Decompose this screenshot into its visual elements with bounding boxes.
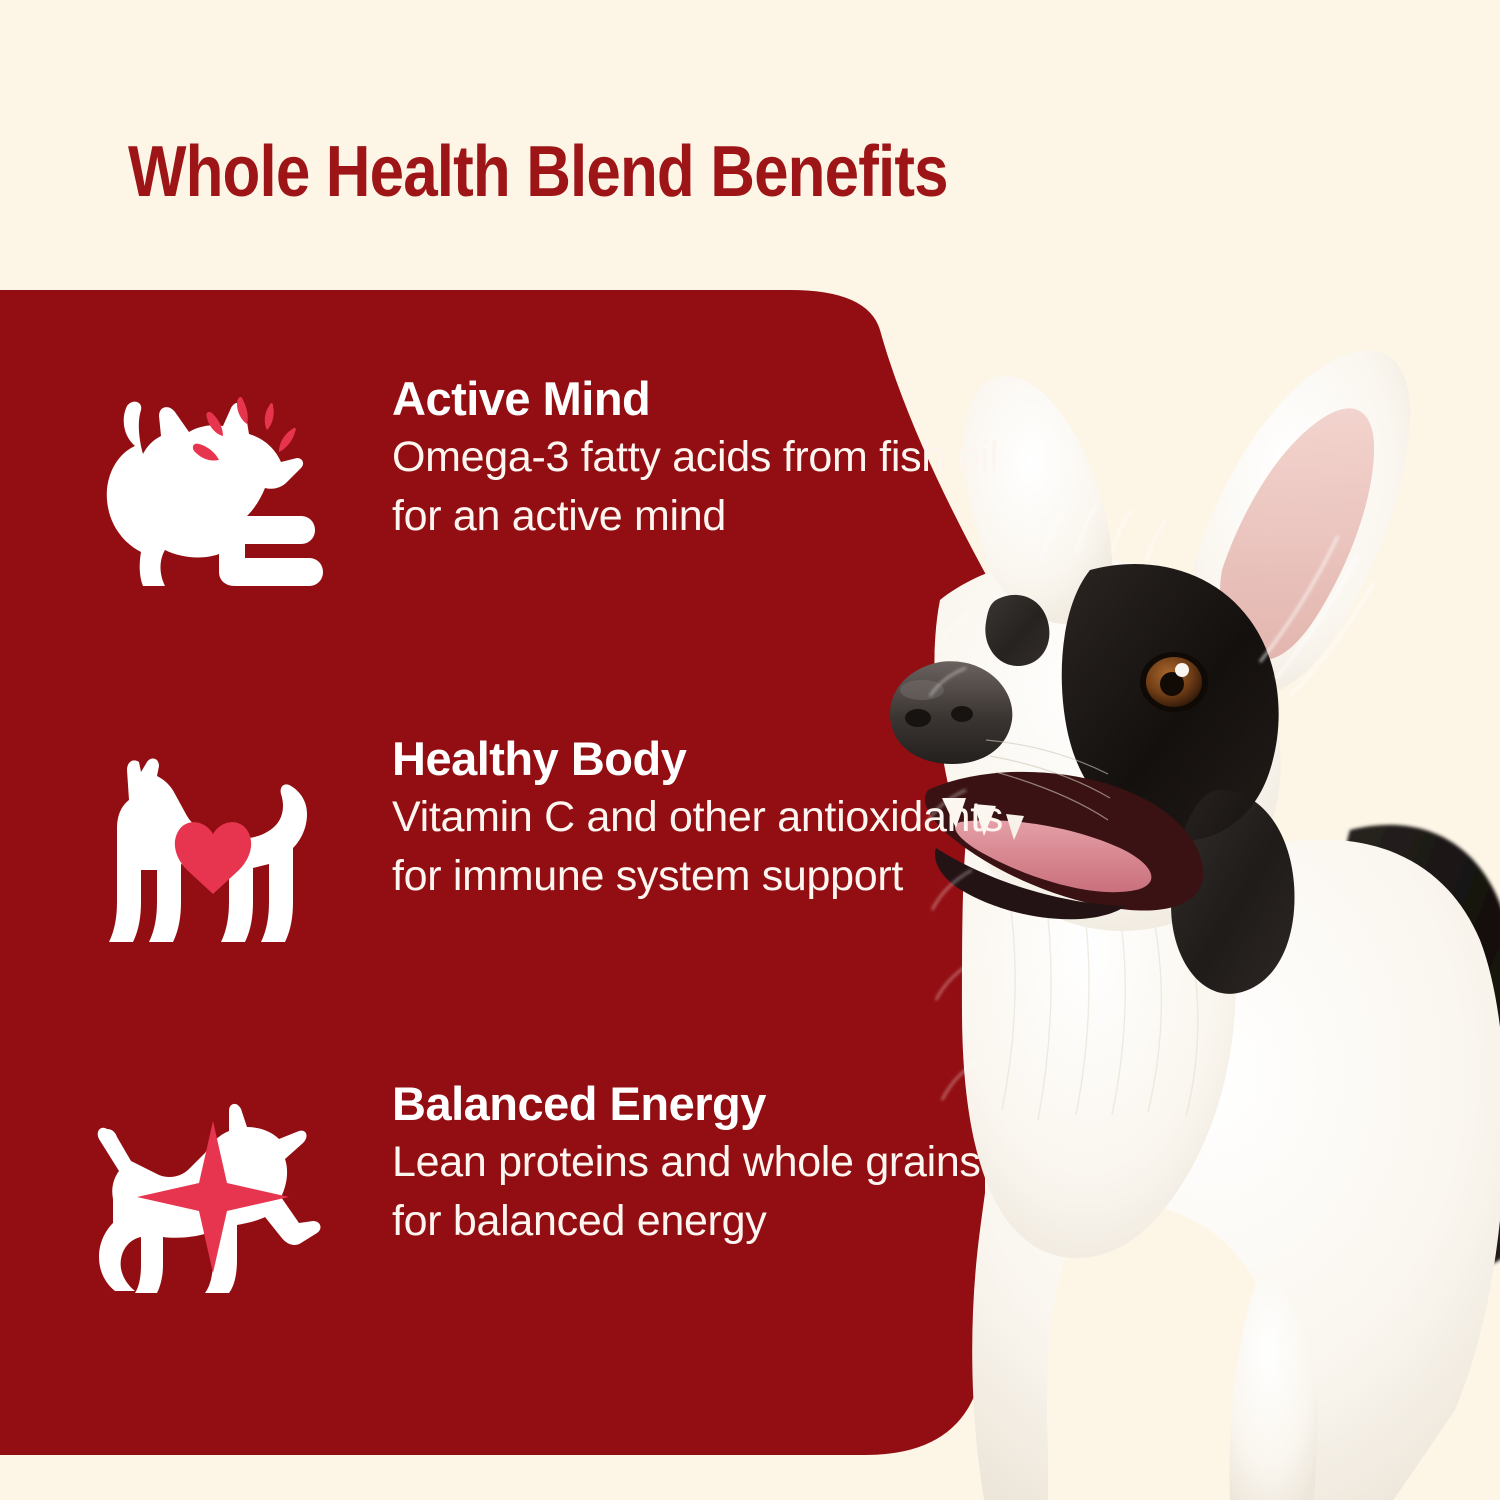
- dog-trotting-star-icon: [95, 1097, 330, 1297]
- benefit-heading: Healthy Body: [392, 730, 1017, 788]
- dog-play-bow-sparkle-icon: [95, 392, 330, 592]
- benefits-list: Active Mind Omega-3 fatty acids from fis…: [0, 0, 1020, 1500]
- benefit-body: Lean proteins and whole grains for balan…: [392, 1133, 1017, 1251]
- benefit-text-block: Balanced Energy Lean proteins and whole …: [392, 1075, 1017, 1251]
- benefit-body: Omega-3 fatty acids from fish oil for an…: [392, 428, 1017, 546]
- benefit-heading: Active Mind: [392, 370, 1017, 428]
- benefit-text-block: Active Mind Omega-3 fatty acids from fis…: [392, 370, 1017, 546]
- benefit-text-block: Healthy Body Vitamin C and other antioxi…: [392, 730, 1017, 906]
- benefit-heading: Balanced Energy: [392, 1075, 1017, 1133]
- benefit-body: Vitamin C and other antioxidants for imm…: [392, 788, 1017, 906]
- dog-standing-heart-icon: [95, 752, 330, 952]
- infographic-stage: Whole Health Blend Benefits: [0, 0, 1500, 1500]
